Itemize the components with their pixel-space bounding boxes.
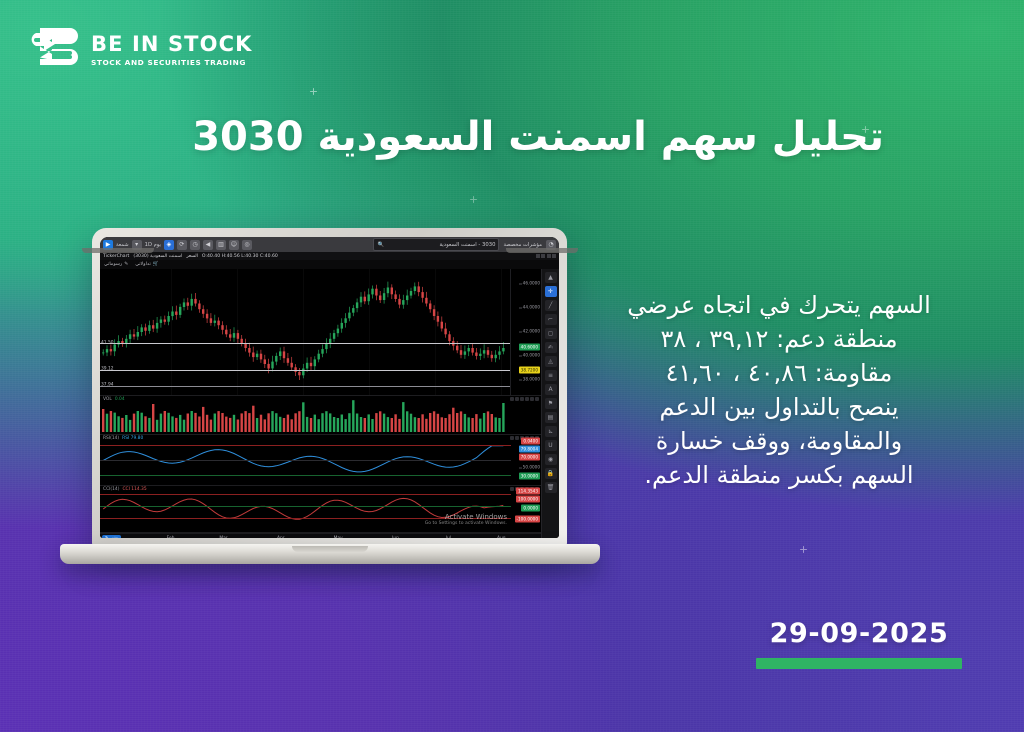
symbol-search-input[interactable]: 🔍 3030 - اسمنت السعودية xyxy=(373,238,499,251)
cci-value: CCI 114.35 xyxy=(122,487,146,492)
rsi-badge-30: 30.0000 xyxy=(519,473,540,480)
time-label: Jun xyxy=(392,536,399,538)
pane-close-icon[interactable] xyxy=(535,397,539,401)
cci-upper-line xyxy=(100,494,511,495)
pane-hide-icon[interactable] xyxy=(515,436,519,440)
level-price-badge: 38.7200 xyxy=(519,367,540,374)
info-source: TickerChart xyxy=(103,254,129,259)
cursor-icon[interactable]: ▲ xyxy=(545,272,557,283)
layout-icon[interactable]: ▥ xyxy=(216,240,226,250)
sparkle-icon xyxy=(470,196,477,203)
camera-icon[interactable]: ◎ xyxy=(242,240,252,250)
support-line-2[interactable] xyxy=(100,386,511,387)
cci-badge-100: 100.0000 xyxy=(516,496,540,503)
alert-icon[interactable]: ◷ xyxy=(190,240,200,250)
symbol-search-value: 3030 - اسمنت السعودية xyxy=(439,242,495,248)
pencil-icon: ✎ xyxy=(105,536,109,538)
axis-tick: 38.0000 xyxy=(523,377,540,382)
time-label: May xyxy=(334,536,343,538)
chart-body: 46.0000 44.0000 42.0000 40.0000 38.0000 … xyxy=(100,269,559,538)
crosshair-icon[interactable]: ✛ xyxy=(545,286,557,297)
pane-more-icon[interactable] xyxy=(530,397,534,401)
cart-icon: 🛒 xyxy=(153,262,159,267)
time-label: Jul xyxy=(446,536,451,538)
price-pane[interactable]: 46.0000 44.0000 42.0000 40.0000 38.0000 … xyxy=(100,269,541,396)
chart-plot-area[interactable]: 46.0000 44.0000 42.0000 40.0000 38.0000 … xyxy=(100,269,541,538)
app-toolbar: ▶ شمعة ▾ يوم 1D ◈ ⟳ ◷ ◀ ▥ ☺ ◎ 🔍 3 xyxy=(100,237,559,252)
text-icon[interactable]: A xyxy=(545,384,557,395)
time-label: Aug xyxy=(497,536,506,538)
date-underline xyxy=(756,658,962,669)
close-icon[interactable] xyxy=(552,254,556,258)
rsi-pane-label: RSI(14) RSI 79.80 xyxy=(103,436,143,441)
trash-icon[interactable]: 🗑 xyxy=(545,482,557,493)
legend-item-drawings[interactable]: ✎ رسوماتي xyxy=(104,262,128,267)
last-price-badge: 40.6000 xyxy=(519,344,540,351)
notes-icon[interactable]: ▤ xyxy=(545,412,557,423)
rsi-badge-70: 70.0000 xyxy=(519,454,540,461)
search-icon: 🔍 xyxy=(377,242,384,248)
cci-series xyxy=(100,486,538,532)
volume-label: VOL xyxy=(103,397,112,402)
rsi-badge-top: 0.0400 xyxy=(521,438,540,445)
laptop-lid: ▶ شمعة ▾ يوم 1D ◈ ⟳ ◷ ◀ ▥ ☺ ◎ 🔍 3 xyxy=(92,228,567,548)
cci-value-badge: 114.3543 xyxy=(516,488,540,495)
analysis-line: مقاومة: ٤٠,٨٦ ، ٤١,٦٠ xyxy=(579,356,979,390)
axis-tick: 40.0000 xyxy=(523,353,540,358)
laptop-base xyxy=(60,544,600,564)
volume-pane[interactable]: VOL 0.04 xyxy=(100,396,541,435)
rsi-oversold-line xyxy=(100,475,511,476)
legend-label: رسوماتي xyxy=(104,262,122,267)
ruler-icon[interactable]: ⌐ xyxy=(545,314,557,325)
trendline-icon[interactable]: ╱ xyxy=(545,300,557,311)
poster: BE IN STOCK STOCK AND SECURITIES TRADING… xyxy=(0,0,1024,732)
drawing-tools-rail[interactable]: ▲ ✛ ╱ ⌐ ◻ ✍ ◬ ≡ A ⚑ ▤ ⊾ U ◉ 🔒 xyxy=(541,269,559,538)
publish-button-label: نشر xyxy=(111,536,119,538)
measure-icon[interactable]: ⊾ xyxy=(545,426,557,437)
pane-settings-icon[interactable] xyxy=(510,436,514,440)
laptop-foot xyxy=(506,248,578,253)
axis-tick: 44.0000 xyxy=(523,305,540,310)
indicator-icon[interactable]: ◈ xyxy=(164,240,174,250)
maximize-icon[interactable] xyxy=(541,254,545,258)
settings-icon[interactable]: ☺ xyxy=(229,240,239,250)
page-title: تحليل سهم اسمنت السعودية 3030 xyxy=(124,112,884,162)
legend-item-trades[interactable]: 🛒 تداولاتي xyxy=(135,262,159,267)
sparkle-icon xyxy=(310,88,317,95)
brand-logo-text: BE IN STOCK STOCK AND SECURITIES TRADING xyxy=(91,34,252,66)
resistance-line[interactable] xyxy=(100,343,511,344)
volume-series xyxy=(100,396,538,434)
minimize-icon[interactable] xyxy=(536,254,540,258)
compare-icon[interactable]: ◀ xyxy=(203,240,213,250)
volume-value: 0.04 xyxy=(115,397,125,402)
pane-up-icon[interactable] xyxy=(520,397,524,401)
symbol-info-bar: TickerChart اسمنت السعودية (3030) السعر … xyxy=(100,252,559,260)
laptop-foot xyxy=(82,248,154,253)
cci-pane[interactable]: CCI(14) CCI 114.35 114.3543 xyxy=(100,486,541,533)
info-price-label: السعر xyxy=(186,254,198,259)
brush-icon[interactable]: ✍ xyxy=(545,342,557,353)
rsi-mid-line xyxy=(100,460,511,461)
time-label: Feb xyxy=(167,536,175,538)
brand-logo[interactable]: BE IN STOCK STOCK AND SECURITIES TRADING xyxy=(30,24,252,76)
laptop-mockup: ▶ شمعة ▾ يوم 1D ◈ ⟳ ◷ ◀ ▥ ☺ ◎ 🔍 3 xyxy=(60,228,600,578)
eye-icon[interactable]: ◉ xyxy=(545,454,557,465)
level-label: 39.12 xyxy=(101,367,114,372)
date-block: 29-09-2025 xyxy=(756,618,962,669)
analysis-line: السهم بكسر منطقة الدعم. xyxy=(579,458,979,492)
chart-legend-bar: ✎ رسوماتي 🛒 تداولاتي xyxy=(100,260,559,269)
axis-tick: 46.0000 xyxy=(523,281,540,286)
price-level-labels: 41.50 39.12 37.94 xyxy=(100,269,126,395)
info-ohlc: O:40.40 H:40.56 L:40.30 C:40.60 xyxy=(202,254,278,259)
level-label: 41.50 xyxy=(101,341,114,346)
cci-label: CCI(14) xyxy=(103,487,119,492)
rsi-value: RSI 79.80 xyxy=(122,436,143,441)
rsi-value-badge: 79.8004 xyxy=(519,446,540,453)
pane-settings-icon[interactable] xyxy=(510,487,514,491)
date-text: 29-09-2025 xyxy=(756,618,962,649)
flag-icon[interactable]: ⚑ xyxy=(545,398,557,409)
pen-icon: ✎ xyxy=(124,262,128,267)
time-axis[interactable]: ✎ نشر Feb Mar Apr May Jun Jul Aug xyxy=(100,533,541,538)
volume-pane-label: VOL 0.04 xyxy=(103,397,125,402)
cci-badge-0: 0.0000 xyxy=(521,505,540,512)
replay-icon[interactable]: ⟳ xyxy=(177,240,187,250)
brand-name: BE IN STOCK xyxy=(91,34,252,55)
time-label: Apr xyxy=(277,536,285,538)
analysis-line: منطقة دعم: ٣٩,١٢ ، ٣٨ xyxy=(579,322,979,356)
pane-hide-icon[interactable] xyxy=(515,397,519,401)
sparkle-icon xyxy=(800,546,807,553)
pane-down-icon[interactable] xyxy=(525,397,529,401)
candlestick-series xyxy=(100,269,538,395)
fib-icon[interactable]: ≡ xyxy=(545,370,557,381)
legend-label: تداولاتي xyxy=(135,262,151,267)
laptop-screen: ▶ شمعة ▾ يوم 1D ◈ ⟳ ◷ ◀ ▥ ☺ ◎ 🔍 3 xyxy=(100,237,559,538)
analysis-line: ينصح بالتداول بين الدعم xyxy=(579,390,979,424)
level-label: 37.94 xyxy=(101,383,114,388)
cci-badge-neg100: -100.0000 xyxy=(515,516,541,523)
be-in-stock-arrows-logo-icon xyxy=(30,24,80,76)
analysis-text: السهم يتحرك في اتجاه عرضي منطقة دعم: ٣٩,… xyxy=(579,288,979,492)
pane-tools[interactable] xyxy=(510,397,539,401)
toolbar-timeframe-label[interactable]: يوم 1D xyxy=(145,242,161,248)
rsi-overbought-line xyxy=(100,445,511,446)
cci-zero-line xyxy=(100,506,511,507)
axis-tick: 42.0000 xyxy=(523,329,540,334)
analysis-line: والمقاومة، ووقف خسارة xyxy=(579,424,979,458)
cci-lower-line xyxy=(100,518,511,519)
rsi-label: RSI(14) xyxy=(103,436,119,441)
analysis-line: السهم يتحرك في اتجاه عرضي xyxy=(579,288,979,322)
toolbar-candle-label[interactable]: شمعة xyxy=(116,242,129,248)
publish-button[interactable]: ✎ نشر xyxy=(102,535,121,538)
restore-icon[interactable] xyxy=(547,254,551,258)
shapes-icon[interactable]: ◻ xyxy=(545,328,557,339)
magnet-icon[interactable]: U xyxy=(545,440,557,451)
pattern-icon[interactable]: ◬ xyxy=(545,356,557,367)
support-line-1[interactable] xyxy=(100,370,511,371)
brand-tagline: STOCK AND SECURITIES TRADING xyxy=(91,59,252,66)
custom-indicators-label[interactable]: مؤشرات مخصصة xyxy=(503,242,542,248)
pane-settings-icon[interactable] xyxy=(510,397,514,401)
cci-pane-label: CCI(14) CCI 114.35 xyxy=(103,487,147,492)
info-symbol: اسمنت السعودية (3030) xyxy=(133,254,182,259)
price-axis[interactable]: 46.0000 44.0000 42.0000 40.0000 38.0000 xyxy=(510,269,541,395)
time-label: Mar xyxy=(219,536,227,538)
rsi-pane[interactable]: RSI(14) RSI 79.80 0.0400 xyxy=(100,435,541,486)
laptop-notch xyxy=(292,546,368,552)
window-controls[interactable] xyxy=(536,254,557,258)
lock-icon[interactable]: 🔒 xyxy=(545,468,557,479)
